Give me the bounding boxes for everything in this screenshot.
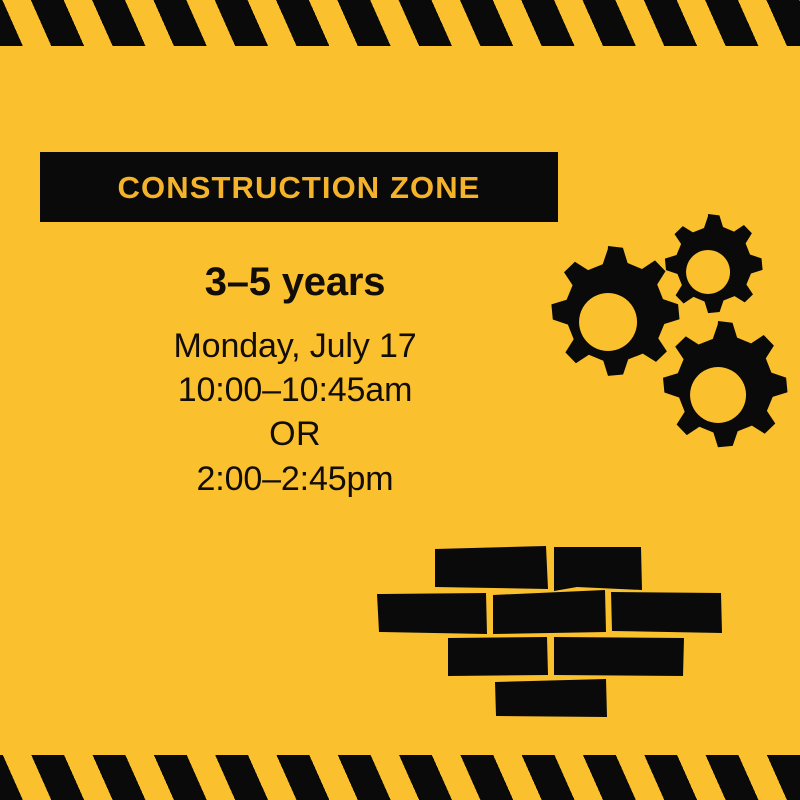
brick bbox=[495, 679, 607, 717]
event-time-afternoon-label: 2:00–2:45pm bbox=[60, 457, 530, 501]
hazard-stripe-band-top bbox=[0, 0, 800, 46]
page-title: CONSTRUCTION ZONE bbox=[118, 172, 481, 203]
brick-wall-icon bbox=[365, 535, 735, 730]
brick bbox=[448, 637, 548, 676]
event-time-conjunction-label: OR bbox=[60, 412, 530, 456]
brick bbox=[611, 592, 722, 633]
construction-zone-poster: CONSTRUCTION ZONE 3–5 years Monday, July… bbox=[0, 0, 800, 800]
gear-small-top-right bbox=[665, 214, 763, 313]
event-details: 3–5 years Monday, July 17 10:00–10:45am … bbox=[60, 262, 530, 501]
brick bbox=[554, 547, 642, 591]
brick bbox=[435, 546, 548, 589]
event-date-label: Monday, July 17 bbox=[60, 324, 530, 368]
age-range-label: 3–5 years bbox=[60, 262, 530, 302]
hazard-stripe-band-bottom bbox=[0, 755, 800, 800]
gear-medium-bottom-right bbox=[663, 321, 788, 447]
event-time-morning-label: 10:00–10:45am bbox=[60, 368, 530, 412]
brick bbox=[554, 637, 684, 676]
brick bbox=[377, 593, 487, 634]
brick bbox=[493, 590, 606, 634]
gears-icon bbox=[520, 210, 800, 485]
title-banner: CONSTRUCTION ZONE bbox=[40, 152, 558, 222]
gear-large-left bbox=[551, 246, 679, 376]
